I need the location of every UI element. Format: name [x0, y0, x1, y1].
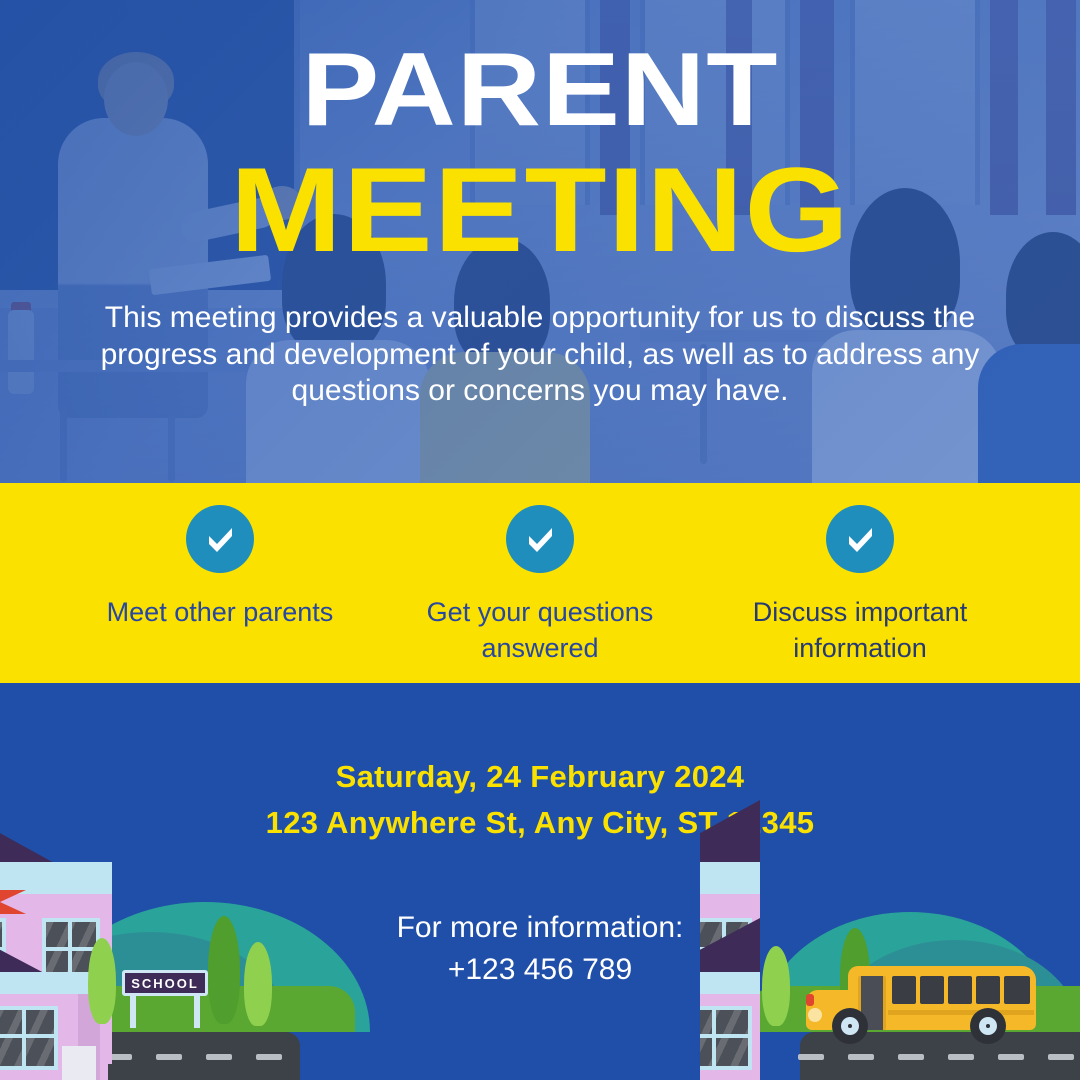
- feature-item: Meet other parents: [60, 505, 380, 631]
- bus-window: [976, 976, 1000, 1004]
- building-roof: [0, 800, 56, 864]
- building-trim: [700, 972, 760, 994]
- road-dash: [256, 1054, 282, 1060]
- check-circle-icon: [186, 505, 254, 573]
- hero-section: PARENT MEETING This meeting provides a v…: [0, 0, 1080, 483]
- school-bus: [806, 960, 1036, 1036]
- road-dash: [848, 1054, 874, 1060]
- road-dash: [898, 1054, 924, 1060]
- bus-window: [920, 976, 944, 1004]
- sign-leg: [194, 994, 200, 1028]
- school-building-scene: SCHOOL: [0, 800, 400, 1080]
- porch-roof: [0, 918, 46, 974]
- feature-label: Discuss important information: [700, 595, 1020, 666]
- feature-label: Meet other parents: [60, 595, 380, 631]
- bus-taillight: [806, 994, 814, 1006]
- road-dash: [206, 1054, 232, 1060]
- bus-headlight: [808, 1008, 822, 1022]
- check-circle-icon: [506, 505, 574, 573]
- intro-paragraph: This meeting provides a valuable opportu…: [88, 300, 992, 410]
- school-sign-text: SCHOOL: [131, 976, 199, 991]
- page-title-line2: MEETING: [0, 150, 1080, 270]
- parent-meeting-poster: PARENT MEETING This meeting provides a v…: [0, 0, 1080, 1080]
- school-bus-scene: [700, 800, 1080, 1080]
- road-dash: [948, 1054, 974, 1060]
- window-mullion: [0, 1034, 58, 1038]
- school-sign: SCHOOL: [122, 970, 208, 996]
- flag: [0, 890, 26, 914]
- bus-window: [1004, 976, 1030, 1004]
- window-mullion: [700, 1034, 752, 1038]
- check-circle-icon: [826, 505, 894, 573]
- page-title-line1: PARENT: [0, 38, 1080, 142]
- features-band: Meet other parents Get your questions an…: [0, 483, 1080, 683]
- road-dash: [1048, 1054, 1074, 1060]
- sign-leg: [130, 994, 136, 1028]
- bus-stripe: [888, 1010, 1034, 1015]
- feature-label: Get your questions answered: [380, 595, 700, 666]
- feature-item: Discuss important information: [700, 505, 1020, 666]
- tree: [88, 938, 116, 1024]
- tree: [244, 942, 272, 1026]
- road-dash: [798, 1054, 824, 1060]
- building-roof: [700, 800, 760, 864]
- bus-wheel: [970, 1008, 1006, 1044]
- building-trim: [700, 862, 760, 894]
- window-mullion: [22, 1006, 26, 1070]
- tree: [762, 946, 790, 1026]
- road-dash: [156, 1054, 182, 1060]
- building-window: [700, 1006, 752, 1070]
- tree: [208, 916, 240, 1024]
- feature-item: Get your questions answered: [380, 505, 700, 666]
- window-mullion: [712, 1006, 716, 1070]
- bus-window: [948, 976, 972, 1004]
- road-dash: [998, 1054, 1024, 1060]
- porch-roof: [700, 918, 760, 974]
- event-date: Saturday, 24 February 2024: [0, 759, 1080, 795]
- bus-window: [892, 976, 916, 1004]
- bus-wheel: [832, 1008, 868, 1044]
- building-window: [0, 1006, 58, 1070]
- building-base: [62, 1046, 96, 1080]
